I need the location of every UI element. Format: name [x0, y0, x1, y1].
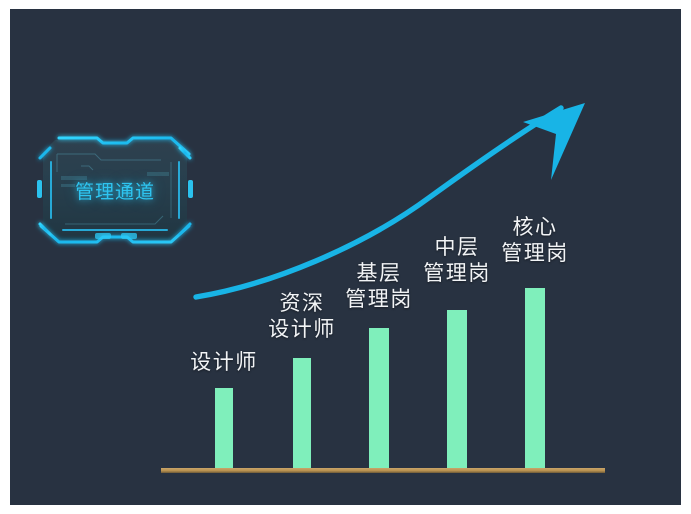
dark-stage: 管理通道 设计师 资深 设计师 基层 管理岗 中层 管理岗 核心 管理	[10, 9, 681, 505]
career-ladder-bar-chart: 设计师 资深 设计师 基层 管理岗 中层 管理岗 核心 管理岗	[10, 9, 681, 505]
bar-core-manager[interactable]	[525, 288, 545, 468]
bar-label-designer: 设计师	[164, 350, 284, 376]
bar-designer[interactable]	[215, 388, 233, 468]
bar-junior-manager[interactable]	[369, 328, 389, 468]
bar-senior-designer[interactable]	[293, 358, 311, 468]
slide-canvas: 管理通道 设计师 资深 设计师 基层 管理岗 中层 管理岗 核心 管理	[0, 0, 691, 514]
bar-middle-manager[interactable]	[447, 310, 467, 468]
bar-label-core-manager: 核心 管理岗	[475, 215, 595, 266]
chart-baseline	[161, 468, 605, 473]
